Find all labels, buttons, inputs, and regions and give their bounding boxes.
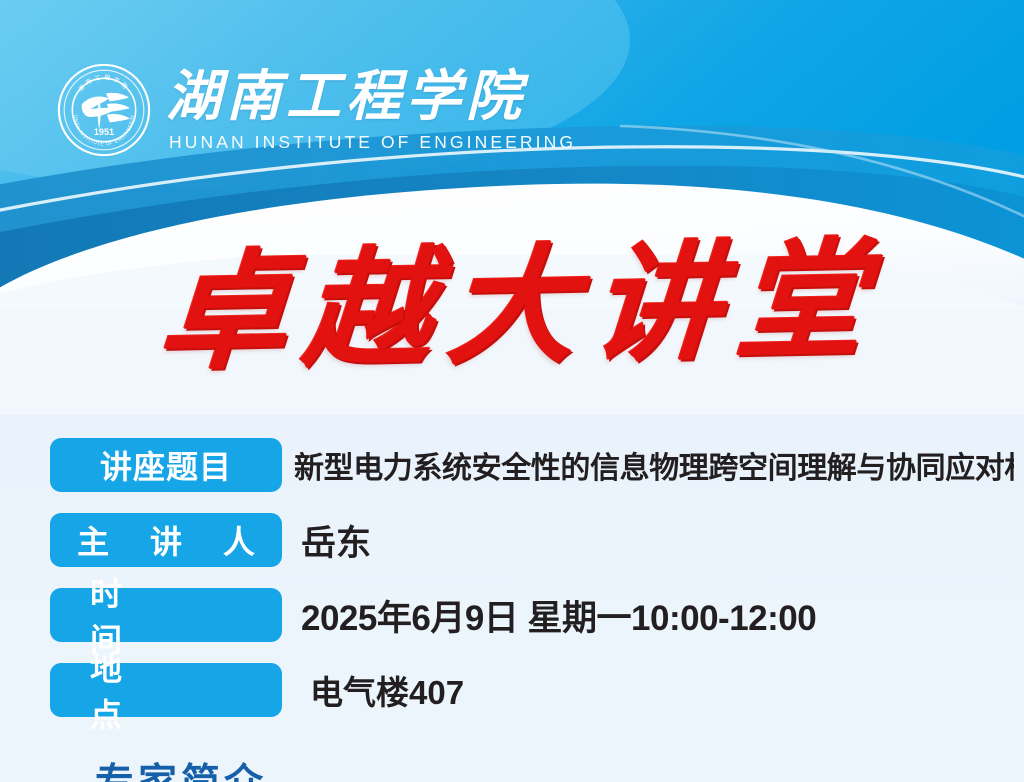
university-emblem-icon: 1951 HUNAN INSTITUTE OF ENGINEERING 湖南工程… bbox=[56, 62, 152, 158]
emblem-year-text: 1951 bbox=[94, 127, 114, 137]
info-label-speaker: 主 讲 人 bbox=[50, 513, 282, 567]
info-label-location: 地 点 bbox=[50, 663, 282, 717]
info-row-time: 时 间 2025年6月9日 星期一10:00-12:00 bbox=[50, 588, 1014, 642]
svg-text:湖南工程学院: 湖南工程学院 bbox=[77, 73, 132, 93]
info-row-lecture-title: 讲座题目 新型电力系统安全性的信息物理跨空间理解与协同应对机制 bbox=[50, 438, 1014, 492]
lecture-poster: 1951 HUNAN INSTITUTE OF ENGINEERING 湖南工程… bbox=[0, 0, 1024, 782]
info-value-location: 电气楼407 bbox=[282, 666, 1014, 714]
info-row-location: 地 点 电气楼407 bbox=[50, 663, 1014, 717]
university-name-cn: 湖南工程学院 bbox=[166, 69, 576, 125]
info-value-speaker: 岳东 bbox=[282, 515, 1014, 566]
university-name-en: HUNAN INSTITUTE OF ENGINEERING bbox=[169, 132, 576, 153]
banner-white-field bbox=[0, 255, 1024, 415]
info-value-lecture-title: 新型电力系统安全性的信息物理跨空间理解与协同应对机制 bbox=[282, 443, 1014, 487]
info-value-time: 2025年6月9日 星期一10:00-12:00 bbox=[282, 590, 1014, 641]
info-label-lecture-title: 讲座题目 bbox=[50, 438, 282, 492]
university-logo-block: 1951 HUNAN INSTITUTE OF ENGINEERING 湖南工程… bbox=[56, 62, 576, 158]
info-label-time: 时 间 bbox=[50, 588, 282, 642]
expert-intro-heading: 专家简介 bbox=[95, 752, 267, 782]
info-row-speaker: 主 讲 人 岳东 bbox=[50, 513, 1014, 567]
lecture-info-list: 讲座题目 新型电力系统安全性的信息物理跨空间理解与协同应对机制 主 讲 人 岳东… bbox=[50, 438, 1014, 738]
